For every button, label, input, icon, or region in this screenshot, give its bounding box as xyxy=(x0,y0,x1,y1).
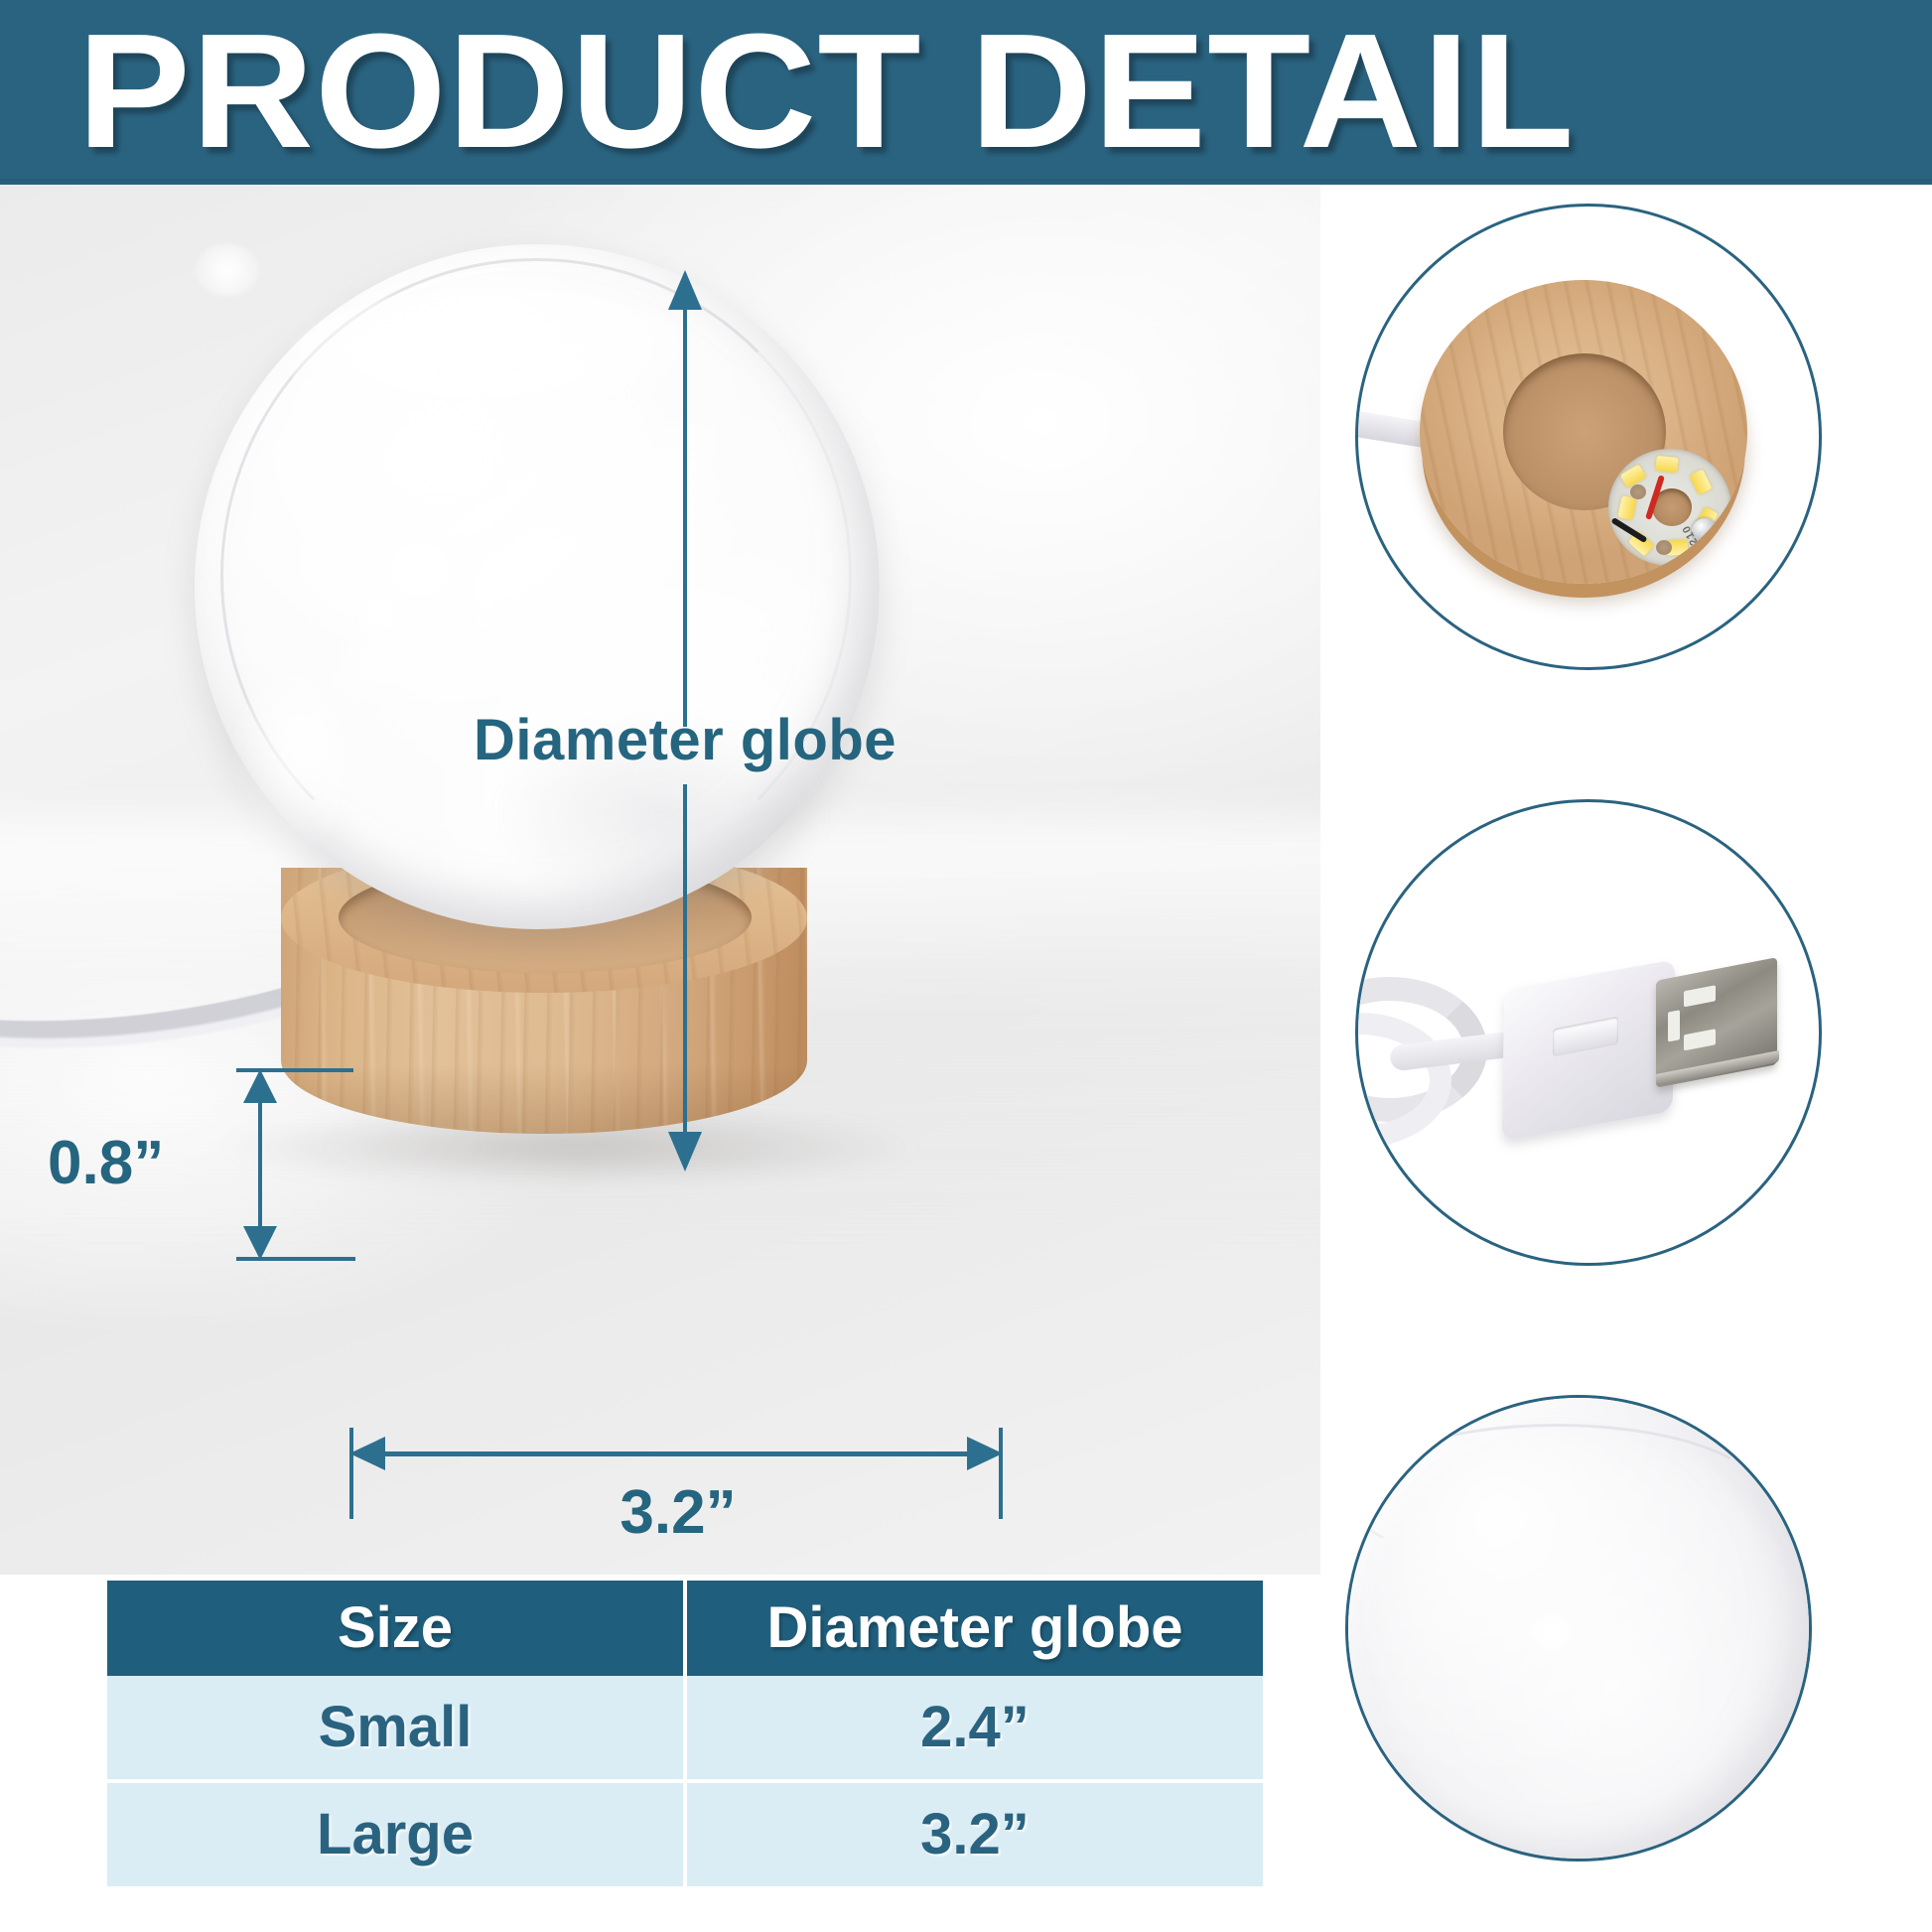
diameter-arrow-up-icon xyxy=(668,270,702,310)
inset-usb-plug-housing xyxy=(1502,960,1676,1142)
usb-contact-slot xyxy=(1668,1010,1680,1041)
table-row: Small 2.4” xyxy=(107,1676,1263,1781)
diameter-dimension-label: Diameter globe xyxy=(338,707,1033,773)
header-banner: PRODUCT DETAIL xyxy=(0,0,1932,185)
globe-lower-left-highlight xyxy=(228,671,347,860)
table-cell-size-large: Large xyxy=(107,1781,685,1886)
inset-led-base-underside: 3210 xyxy=(1355,204,1822,670)
diameter-dimension-shaft-upper xyxy=(683,298,687,727)
inset-pcb-vent-hole xyxy=(1630,484,1646,499)
smd-led-chip-icon xyxy=(1620,465,1647,488)
globe-specular-highlight-c xyxy=(195,244,260,296)
smd-led-chip-icon xyxy=(1689,469,1712,494)
height-arrow-up-icon xyxy=(243,1069,277,1103)
inset-globe-sphere xyxy=(1345,1395,1812,1862)
inset-globe-specular-highlight xyxy=(1527,1612,1575,1652)
table-cell-size-small: Small xyxy=(107,1676,685,1781)
width-arrow-left-icon xyxy=(349,1437,385,1470)
inset-wood-cavity: 3210 xyxy=(1503,353,1666,510)
inset-usb-connector xyxy=(1355,799,1822,1266)
product-detail-infographic: PRODUCT DETAIL Diameter globe xyxy=(0,0,1932,1932)
height-arrow-down-icon xyxy=(243,1226,277,1260)
usb-contact-slot xyxy=(1684,1029,1716,1050)
product-photo-area xyxy=(0,185,1320,1575)
table-header-size: Size xyxy=(107,1581,685,1676)
page-title: PRODUCT DETAIL xyxy=(77,4,1575,179)
diameter-arrow-down-icon xyxy=(668,1132,702,1172)
table-cell-diameter-large: 3.2” xyxy=(685,1781,1263,1886)
height-dimension-label: 0.8” xyxy=(48,1128,164,1198)
globe-specular-highlight-b xyxy=(353,594,405,633)
size-table: Size Diameter globe Small 2.4” Large 3.2… xyxy=(107,1581,1263,1886)
inset-globe-rim-highlight xyxy=(1348,1424,1765,1573)
globe-specular-highlight-a xyxy=(381,542,459,598)
inset-wooden-disc: 3210 xyxy=(1420,280,1747,584)
inset-led-pcb: 3210 xyxy=(1608,449,1731,566)
width-dimension-shaft xyxy=(379,1451,975,1456)
inset-pcb-vent-hole xyxy=(1656,540,1672,555)
smd-led-chip-icon xyxy=(1617,495,1636,520)
table-row: Large 3.2” xyxy=(107,1781,1263,1886)
table-header-row: Size Diameter globe xyxy=(107,1581,1263,1676)
width-dimension-label: 3.2” xyxy=(353,1477,1003,1548)
globe-upper-highlight xyxy=(290,286,707,435)
smd-led-chip-icon xyxy=(1655,456,1678,473)
diameter-dimension-shaft-lower xyxy=(683,784,687,1144)
width-arrow-right-icon xyxy=(967,1437,1003,1470)
crystal-globe xyxy=(195,244,880,929)
inset-crystal-globe-closeup xyxy=(1345,1395,1812,1862)
usb-contact-slot xyxy=(1684,985,1716,1007)
table-cell-diameter-small: 2.4” xyxy=(685,1676,1263,1781)
table-header-diameter: Diameter globe xyxy=(685,1581,1263,1676)
height-dimension-shaft xyxy=(258,1092,262,1239)
size-table-header: Size Diameter globe xyxy=(107,1581,1263,1676)
size-table-body: Small 2.4” Large 3.2” xyxy=(107,1676,1263,1886)
